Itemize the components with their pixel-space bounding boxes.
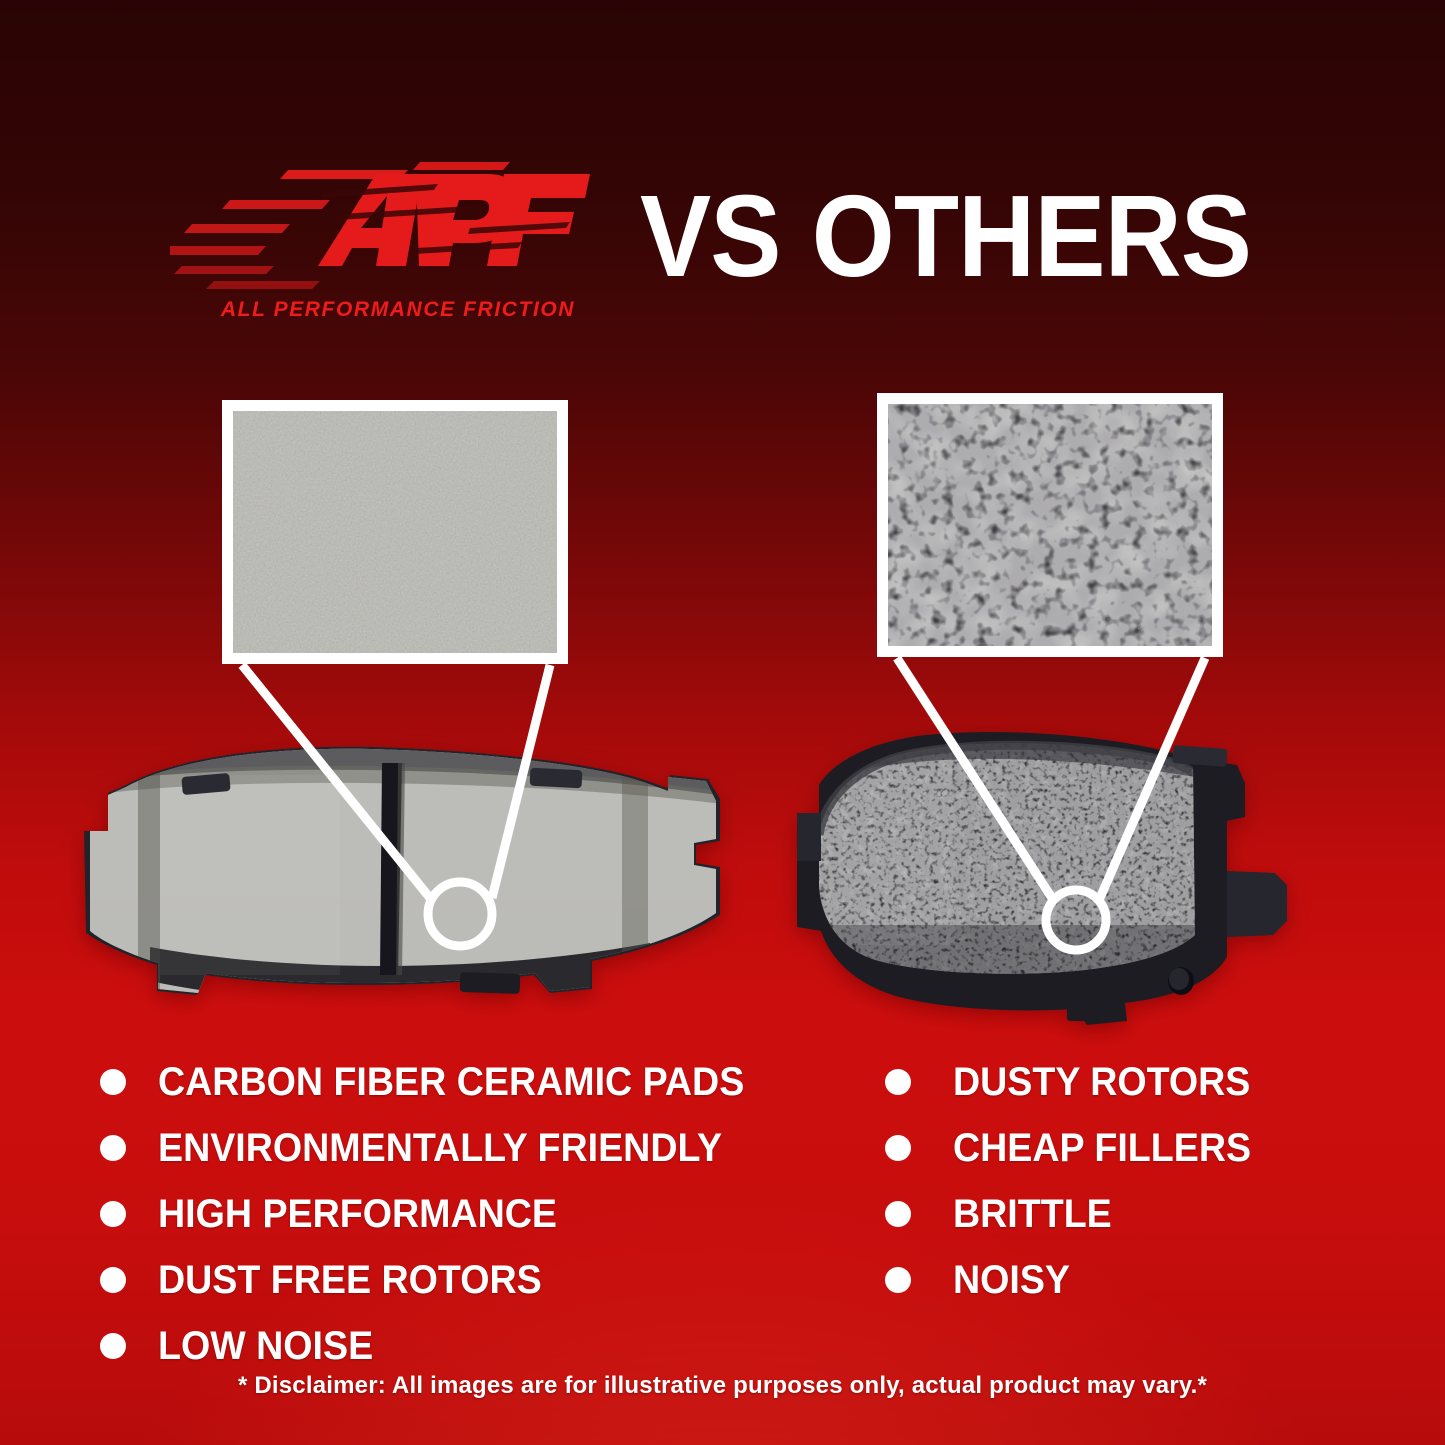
competitor-pad-left-tab [797,813,821,861]
feature-label: BRITTLE [953,1194,1112,1234]
page-title: VSOTHERS [640,178,1251,294]
bullet-icon [885,1267,911,1293]
list-item: BRITTLE [885,1184,1365,1244]
feature-label: CHEAP FILLERS [953,1128,1251,1168]
list-item: HIGH PERFORMANCE [100,1184,860,1244]
vs-word: VS [640,171,781,301]
feature-label: ENVIRONMENTALLY FRIENDLY [158,1128,722,1168]
competitor-magnifier-frame [877,393,1223,657]
apf-feature-list: CARBON FIBER CERAMIC PADS ENVIRONMENTALL… [100,1052,860,1382]
bullet-icon [885,1069,911,1095]
competitor-pad-graphic [775,725,1345,1045]
disclaimer-text: * Disclaimer: All images are for illustr… [0,1372,1445,1400]
feature-label: CARBON FIBER CERAMIC PADS [158,1062,744,1102]
competitor-pad-ear-tab [1227,871,1287,937]
list-item: LOW NOISE [100,1316,860,1376]
apf-brake-pad [30,735,750,1035]
feature-label: LOW NOISE [158,1326,373,1366]
competitor-pad-bottom-tab-right [1067,1003,1121,1021]
bullet-icon [100,1201,126,1227]
competitor-feature-list: DUSTY ROTORS CHEAP FILLERS BRITTLE NOISY [885,1052,1365,1316]
list-item: DUST FREE ROTORS [100,1250,860,1310]
header: ALL PERFORMANCE FRICTION VSOTHERS [0,0,1445,350]
bullet-icon [100,1069,126,1095]
bullet-icon [885,1135,911,1161]
competitor-pad-bottom-tab-left [903,971,952,990]
brand-tagline: ALL PERFORMANCE FRICTION [208,298,588,322]
list-item: DUSTY ROTORS [885,1052,1365,1112]
pad-tab-right [530,768,583,789]
feature-label: NOISY [953,1260,1070,1300]
list-item: NOISY [885,1250,1365,1310]
pad-tab-bottom [460,972,521,994]
bullet-icon [100,1267,126,1293]
list-item: ENVIRONMENTALLY FRIENDLY [100,1118,860,1178]
bullet-icon [100,1333,126,1359]
apf-magnifier-frame [222,400,568,664]
competitor-pad-top-tab [1172,745,1227,767]
competitor-brake-pad [775,725,1345,1045]
bullet-icon [100,1135,126,1161]
competitor-material-texture [888,404,1212,646]
feature-label: DUST FREE ROTORS [158,1260,542,1300]
feature-label: DUSTY ROTORS [953,1062,1250,1102]
apf-pad-graphic [30,735,750,1035]
apf-logo-mark [170,148,590,308]
bullet-icon [885,1201,911,1227]
comparison-infographic: ALL PERFORMANCE FRICTION VSOTHERS [0,0,1445,1445]
list-item: CHEAP FILLERS [885,1118,1365,1178]
feature-label: HIGH PERFORMANCE [158,1194,557,1234]
apf-logo: ALL PERFORMANCE FRICTION [170,148,590,338]
list-item: CARBON FIBER CERAMIC PADS [100,1052,860,1112]
others-word: OTHERS [812,171,1251,301]
apf-material-texture [233,411,557,653]
